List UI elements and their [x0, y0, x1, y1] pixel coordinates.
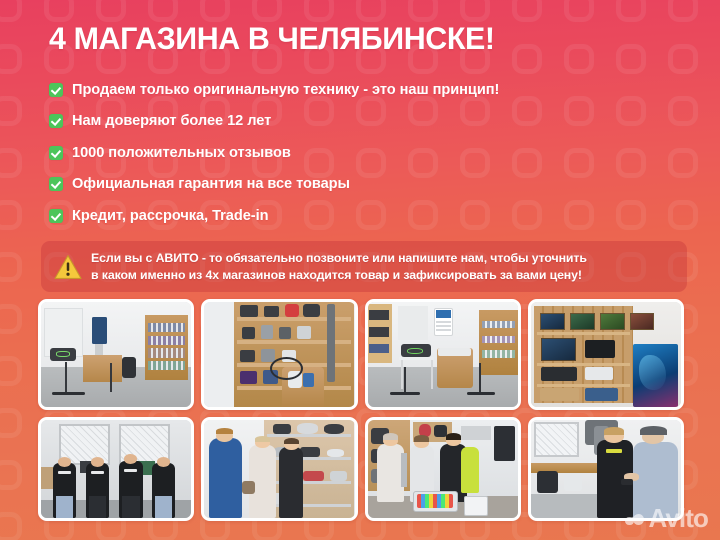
list-item-label: 1000 положительных отзывов [72, 145, 291, 161]
pattern-square [564, 44, 594, 74]
list-item-label: Продаем только оригинальную технику - эт… [72, 82, 499, 98]
warning-banner: Если вы с АВИТО - то обязательно позвони… [41, 241, 687, 292]
warning-line-2: в каком именно из 4х магазинов находится… [91, 268, 582, 282]
pattern-square [460, 0, 490, 22]
list-item-label: Нам доверяют более 12 лет [72, 113, 271, 129]
pattern-square [408, 0, 438, 22]
pattern-square [668, 0, 698, 22]
pattern-square [0, 148, 22, 178]
pattern-square [0, 512, 22, 540]
pattern-square [0, 408, 22, 438]
pattern-square [616, 0, 646, 22]
list-item: Нам доверяют более 12 лет [49, 106, 689, 138]
store-photo[interactable] [365, 299, 521, 410]
store-photo[interactable] [38, 299, 194, 410]
benefits-list: Продаем только оригинальную технику - эт… [49, 74, 689, 232]
pattern-square [0, 44, 22, 74]
pattern-square [616, 44, 646, 74]
list-item: Кредит, рассрочка, Trade-in [49, 200, 689, 232]
store-photo[interactable] [528, 299, 684, 410]
photo-row-2 [38, 417, 684, 521]
pattern-square [44, 0, 74, 22]
store-photo[interactable] [201, 299, 357, 410]
pattern-square [0, 252, 22, 282]
store-photo[interactable] [365, 417, 521, 521]
store-photo[interactable] [201, 417, 357, 521]
pattern-square [0, 0, 22, 22]
photo-row-1 [38, 299, 684, 410]
pattern-square [512, 44, 542, 74]
pattern-square [0, 200, 22, 230]
promo-poster: 4 МАГАЗИНА В ЧЕЛЯБИНСКЕ! Продаем только … [0, 0, 720, 540]
list-item: 1000 положительных отзывов [49, 137, 689, 169]
check-square-icon [49, 146, 63, 160]
pattern-square [668, 44, 698, 74]
store-photo[interactable] [38, 417, 194, 521]
check-square-icon [49, 114, 63, 128]
check-square-icon [49, 83, 63, 97]
pattern-square [0, 304, 22, 334]
pattern-square [0, 460, 22, 490]
pattern-square [0, 96, 22, 126]
pattern-square [96, 0, 126, 22]
list-item-label: Официальная гарантия на все товары [72, 176, 350, 192]
pattern-square [304, 0, 334, 22]
pattern-square [252, 0, 282, 22]
warning-line-1: Если вы с АВИТО - то обязательно позвони… [91, 251, 587, 265]
pattern-square [148, 0, 178, 22]
store-photo[interactable] [528, 417, 684, 521]
warning-text: Если вы с АВИТО - то обязательно позвони… [91, 250, 587, 283]
warning-triangle-icon [54, 254, 82, 280]
pattern-square [356, 0, 386, 22]
check-square-icon [49, 209, 63, 223]
check-square-icon [49, 177, 63, 191]
list-item: Продаем только оригинальную технику - эт… [49, 74, 689, 106]
pattern-square [564, 0, 594, 22]
list-item-label: Кредит, рассрочка, Trade-in [72, 208, 268, 224]
page-title: 4 МАГАЗИНА В ЧЕЛЯБИНСКЕ! [49, 22, 495, 55]
pattern-square [512, 0, 542, 22]
list-item: Официальная гарантия на все товары [49, 169, 689, 201]
pattern-square [0, 356, 22, 386]
pattern-square [200, 0, 230, 22]
